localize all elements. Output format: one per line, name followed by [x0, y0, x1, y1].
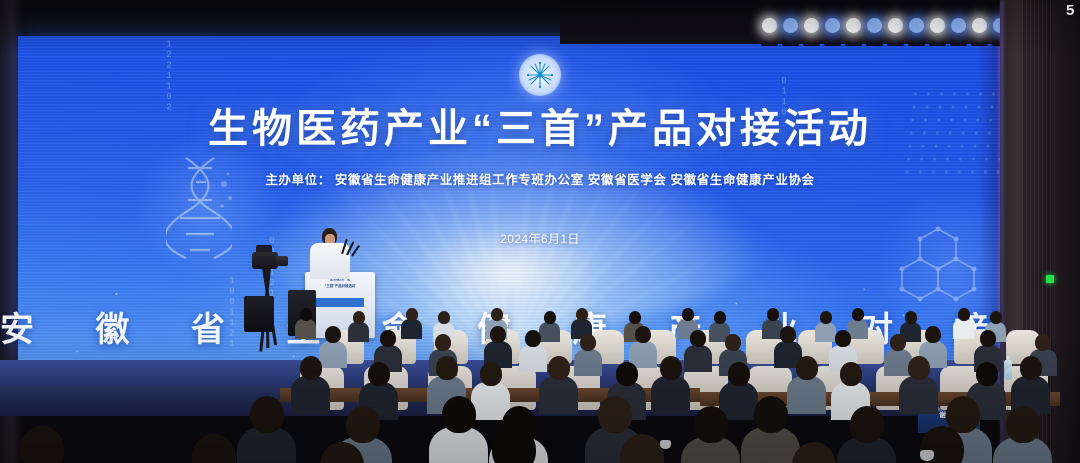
stage-light-blue [867, 18, 882, 33]
stage-light-white [972, 18, 987, 33]
floor-monitor-right [288, 290, 316, 336]
watermark-text: 5 [1066, 2, 1078, 19]
stage-light-blue [909, 18, 924, 33]
right-wall-panel [1000, 0, 1080, 463]
stage-light-white [804, 18, 819, 33]
stage-light-white [762, 18, 777, 33]
face-mask [660, 440, 671, 449]
camera-body [252, 252, 278, 269]
podium-accent-band [308, 298, 364, 307]
sunburst-neuron-logo [519, 54, 561, 96]
floor-monitor-left [244, 296, 274, 332]
attendee-head [792, 442, 836, 463]
attendee-head [920, 426, 964, 463]
attendee-torso [237, 427, 297, 463]
sunburst-icon [525, 60, 555, 90]
conference-stage-photo: 0011221102 00112110 1001121 0110 生物医药产业“… [0, 0, 1080, 463]
stage-light-white [846, 18, 861, 33]
green-status-led-icon [1046, 275, 1054, 283]
attendee-head [192, 434, 236, 463]
attendee-head [320, 442, 364, 463]
attendee-head [20, 426, 64, 463]
attendee-torso [333, 437, 393, 463]
face-mask [920, 450, 934, 461]
attendee-torso [741, 427, 801, 463]
event-title: 生物医药产业“三首”产品对接活动 [0, 96, 1080, 154]
attendee-head [492, 426, 536, 463]
stage-light-blue [825, 18, 840, 33]
lower-banner-text: 安 徽 省 生 命 健 康 产 业 对 接 活 动 [0, 302, 1080, 351]
attendee-head [620, 434, 664, 463]
attendee-torso [933, 427, 993, 463]
event-date: 2024年6月1日 [0, 230, 1080, 247]
podium-title-line-2: “三首”产品对接活动 [309, 284, 371, 289]
camera-lens [276, 256, 288, 266]
stage-skirt [0, 386, 1004, 416]
stage-light-blue [951, 18, 966, 33]
attendee-torso [429, 427, 489, 463]
stage-light-white [888, 18, 903, 33]
attendee-torso [681, 437, 741, 463]
event-organizers: 主办单位： 安徽省生命健康产业推进组工作专班办公室 安徽省医学会 安徽省生命健康… [0, 169, 1080, 188]
attendee-torso [585, 427, 645, 463]
stage-light-white [930, 18, 945, 33]
attendee-torso [837, 437, 897, 463]
stage-light-blue [783, 18, 798, 33]
attendee-torso [489, 437, 549, 463]
